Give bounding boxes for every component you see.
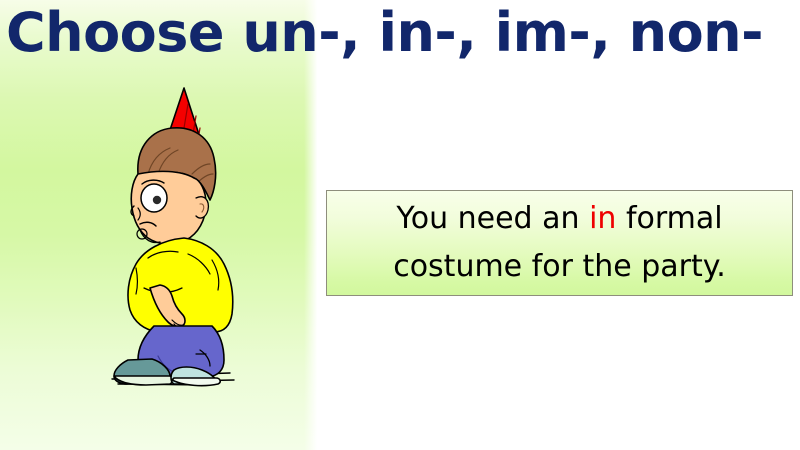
sentence-line1-before: You need an (396, 201, 589, 236)
page-title: Choose un-, in-, im-, non- (6, 0, 800, 70)
sentence-line1-after: formal (616, 201, 722, 236)
slide-canvas: Choose un-, in-, im-, non- (0, 0, 800, 450)
sentence-line2: costume for the party. (327, 243, 792, 291)
face-shape (131, 171, 208, 244)
sentence-text: You need an in formal costume for the pa… (327, 195, 792, 291)
boy-in-party-hat-illustration (88, 82, 248, 392)
sentence-box: You need an in formal costume for the pa… (326, 190, 793, 296)
sentence-highlight-prefix: in (589, 201, 616, 236)
